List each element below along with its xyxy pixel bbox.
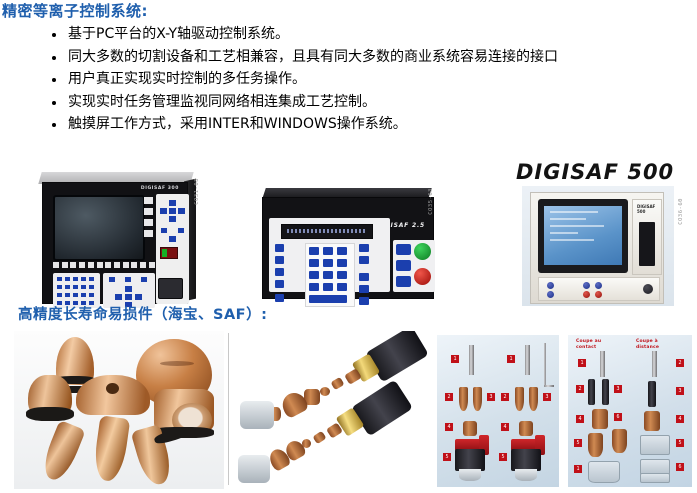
keypad-key[interactable] bbox=[57, 285, 62, 289]
part-badge: 2 bbox=[501, 393, 509, 401]
softkey-column bbox=[144, 197, 153, 241]
device-front-panel: DIGISAF 2.5 bbox=[262, 197, 434, 299]
swirl-ring bbox=[463, 421, 477, 436]
device-photo-row: DIGISAF 300 bbox=[0, 160, 697, 308]
nav-center-key[interactable] bbox=[125, 294, 132, 300]
keypad-key[interactable] bbox=[81, 293, 86, 297]
panel-key[interactable] bbox=[53, 262, 59, 268]
keypad-key[interactable] bbox=[65, 293, 70, 297]
page-title-plasma-control-system: 精密等离子控制系统: bbox=[2, 3, 148, 20]
torch-shield-cup bbox=[240, 401, 274, 429]
shield-cup bbox=[588, 461, 620, 483]
keypad-key[interactable] bbox=[89, 293, 94, 297]
control-face bbox=[269, 218, 390, 292]
function-key[interactable] bbox=[359, 244, 369, 252]
part-badge: 3 bbox=[614, 385, 622, 393]
panel-key[interactable] bbox=[140, 262, 146, 268]
electrode-rod bbox=[652, 351, 657, 377]
retaining-cap bbox=[640, 473, 670, 483]
panel-key[interactable] bbox=[114, 262, 120, 268]
keypad-key[interactable] bbox=[65, 277, 70, 281]
part-badge: 2 bbox=[676, 359, 684, 367]
screen-line bbox=[550, 211, 598, 213]
part-badge: 2 bbox=[445, 393, 453, 401]
panel-key[interactable] bbox=[97, 262, 103, 268]
keypad-key[interactable] bbox=[57, 301, 62, 305]
keypad-key[interactable] bbox=[323, 259, 333, 267]
part-badge: 5 bbox=[574, 439, 582, 447]
torch-tip bbox=[459, 469, 481, 481]
keypad-key[interactable] bbox=[89, 301, 94, 305]
keypad-key[interactable] bbox=[309, 283, 319, 291]
keypad-key[interactable] bbox=[337, 259, 347, 267]
keypad-key[interactable] bbox=[309, 259, 319, 267]
part-badge: 4 bbox=[576, 415, 584, 423]
electrode bbox=[515, 387, 524, 411]
device-brand-label: DIGISAF 300 bbox=[141, 186, 179, 191]
part-badge: 1 bbox=[574, 465, 582, 473]
function-key[interactable] bbox=[359, 256, 369, 264]
panel-label-coupe-a-distance: Coupe à distance bbox=[636, 339, 676, 350]
indicator-lamp bbox=[547, 291, 554, 298]
electrode bbox=[588, 379, 595, 405]
panel-key[interactable] bbox=[79, 262, 85, 268]
lcd-display bbox=[281, 224, 373, 239]
mode-key[interactable] bbox=[396, 276, 411, 287]
keypad-key[interactable] bbox=[309, 247, 319, 255]
function-key[interactable] bbox=[169, 236, 176, 242]
device-photo-cnc-controller: DIGISAF 300 bbox=[36, 172, 194, 302]
stop-button[interactable] bbox=[414, 268, 431, 285]
panel-key[interactable] bbox=[70, 262, 76, 268]
nozzle-body bbox=[612, 429, 627, 453]
panel-key[interactable] bbox=[131, 262, 137, 268]
nav-key[interactable] bbox=[125, 277, 131, 282]
diagram-panel-left: 1 2 3 4 5 1 2 3 4 5 bbox=[437, 335, 559, 487]
keypad-key[interactable] bbox=[337, 283, 347, 291]
keypad-key[interactable] bbox=[57, 277, 62, 281]
indicator-lamp bbox=[583, 282, 590, 289]
navigation-pad bbox=[103, 273, 155, 308]
selector-knob[interactable] bbox=[158, 278, 183, 299]
softkey[interactable] bbox=[144, 197, 153, 204]
part-badge: 1 bbox=[451, 355, 459, 363]
part-badge: 4 bbox=[445, 423, 453, 431]
dpad-up-key[interactable] bbox=[169, 200, 176, 206]
torch-part bbox=[312, 431, 326, 445]
device-side-code: CO31-08 bbox=[194, 178, 200, 205]
start-button[interactable] bbox=[414, 243, 431, 260]
keypad-key[interactable] bbox=[323, 271, 333, 279]
keypad-key[interactable] bbox=[73, 285, 78, 289]
center-bore bbox=[106, 383, 119, 394]
indicator-lamp bbox=[595, 282, 602, 289]
copper-vent-holes bbox=[160, 361, 194, 366]
copper-swirl-ring bbox=[76, 375, 150, 415]
keypad-key[interactable] bbox=[73, 301, 78, 305]
nav-key[interactable] bbox=[109, 277, 115, 282]
o-ring bbox=[26, 407, 74, 421]
list-item: 同大多数的切割设备和工艺相兼容，且具有同大多数的商业系统容易连接的接口 bbox=[46, 47, 666, 69]
keypad-key[interactable] bbox=[337, 271, 347, 279]
screen-bezel bbox=[538, 199, 628, 273]
panel-key[interactable] bbox=[62, 262, 68, 268]
electrode-rod bbox=[469, 345, 474, 375]
keypad-key[interactable] bbox=[65, 285, 70, 289]
part-badge: 3 bbox=[543, 393, 551, 401]
nav-left-key[interactable] bbox=[115, 294, 122, 300]
function-key[interactable] bbox=[359, 297, 369, 305]
screen-line bbox=[550, 225, 604, 227]
section-title-consumables: 高精度长寿命易损件（海宝、SAF）: bbox=[18, 308, 267, 324]
side-column: DIGISAF 500 bbox=[632, 199, 662, 275]
mode-key[interactable] bbox=[396, 244, 411, 255]
swirl-ring bbox=[592, 409, 608, 429]
keypad-key[interactable] bbox=[73, 277, 78, 281]
list-item: 实现实时任务管理监视同网络相连集成工艺控制。 bbox=[46, 92, 666, 114]
swirl-ring bbox=[644, 411, 660, 431]
keypad-key[interactable] bbox=[309, 271, 319, 279]
keypad-key[interactable] bbox=[81, 285, 86, 289]
shield-cup bbox=[640, 435, 670, 455]
nozzle bbox=[473, 387, 482, 411]
part-badge: 1 bbox=[578, 359, 586, 367]
electrode bbox=[459, 387, 468, 411]
function-key[interactable] bbox=[359, 273, 369, 281]
screen-line bbox=[550, 239, 594, 241]
photo-copper-consumables bbox=[14, 331, 224, 489]
dpad-right-key[interactable] bbox=[178, 208, 185, 214]
part-badge: 3 bbox=[676, 387, 684, 395]
keypad-key[interactable] bbox=[65, 301, 70, 305]
selector-knob[interactable] bbox=[643, 284, 653, 294]
keypad-key[interactable] bbox=[323, 283, 333, 291]
dpad-left-key[interactable] bbox=[160, 208, 167, 214]
part-badge: 5 bbox=[499, 453, 507, 461]
function-key[interactable] bbox=[275, 280, 284, 288]
panel-key[interactable] bbox=[123, 262, 129, 268]
photo-divider bbox=[228, 333, 229, 485]
device-photo-frame: DIGISAF 500 bbox=[522, 186, 674, 306]
torch-part bbox=[320, 387, 330, 396]
action-panel bbox=[393, 240, 435, 292]
panel-key[interactable] bbox=[149, 262, 155, 268]
numeric-keypad bbox=[53, 273, 100, 308]
device-screen bbox=[544, 206, 622, 265]
numeric-keypad bbox=[305, 243, 355, 307]
swirl-ring bbox=[519, 421, 533, 436]
feature-list: 基于PC平台的X-Y轴驱动控制系统。 同大多数的切割设备和工艺相兼容，且具有同大… bbox=[46, 24, 666, 137]
nav-key[interactable] bbox=[141, 277, 147, 282]
power-led bbox=[162, 249, 167, 257]
alignment-line bbox=[544, 385, 554, 387]
keypad-key[interactable] bbox=[337, 247, 347, 255]
softkey[interactable] bbox=[144, 208, 153, 215]
keypad-key[interactable] bbox=[323, 247, 333, 255]
alignment-line bbox=[544, 343, 546, 387]
product-page: 精密等离子控制系统: 基于PC平台的X-Y轴驱动控制系统。 同大多数的切割设备和… bbox=[0, 0, 697, 493]
consumables-photo-row: 1 2 3 4 5 1 2 3 4 5 bbox=[0, 327, 697, 493]
electrode bbox=[648, 381, 656, 407]
list-item: 基于PC平台的X-Y轴驱动控制系统。 bbox=[46, 24, 666, 46]
part-badge: 3 bbox=[487, 393, 495, 401]
nav-right-key[interactable] bbox=[135, 294, 142, 300]
cabinet-body: DIGISAF 500 bbox=[530, 192, 664, 304]
button-strip bbox=[53, 262, 155, 268]
function-key[interactable] bbox=[275, 244, 284, 252]
torch-shield-cup bbox=[238, 455, 270, 483]
part-badge: 6 bbox=[614, 413, 622, 421]
device-front-panel: DIGISAF 300 bbox=[42, 182, 188, 304]
keypad-key[interactable] bbox=[89, 285, 94, 289]
enter-key[interactable] bbox=[309, 295, 347, 303]
keypad-key[interactable] bbox=[89, 277, 94, 281]
keypad-key[interactable] bbox=[73, 293, 78, 297]
part-badge: 4 bbox=[501, 423, 509, 431]
dpad-center-key[interactable] bbox=[169, 208, 176, 214]
panel-key[interactable] bbox=[88, 262, 94, 268]
nav-up-key[interactable] bbox=[125, 286, 132, 292]
panel-label-coupe-au-contact: Coupe au contact bbox=[576, 339, 616, 350]
function-key[interactable] bbox=[275, 294, 284, 302]
list-item: 用户真正实现实时控制的多任务操作。 bbox=[46, 69, 666, 91]
device-side-code: CO35-63 bbox=[428, 188, 434, 215]
photo-torch-assemblies bbox=[236, 331, 432, 489]
screen-line bbox=[550, 232, 578, 234]
list-item: 触摸屏工作方式，采用INTER和WINDOWS操作系统。 bbox=[46, 114, 666, 136]
function-key[interactable] bbox=[178, 228, 184, 233]
device-photo-digisaf-25: DIGISAF 2.5 bbox=[258, 188, 436, 300]
torch-part bbox=[330, 377, 344, 390]
screen-line bbox=[550, 218, 586, 220]
mode-key[interactable] bbox=[396, 260, 411, 271]
indicator-lamp bbox=[547, 282, 554, 289]
part-badge: 5 bbox=[676, 439, 684, 447]
keypad-key[interactable] bbox=[81, 301, 86, 305]
softkey[interactable] bbox=[144, 219, 153, 226]
part-badge: 2 bbox=[576, 385, 584, 393]
function-key[interactable] bbox=[161, 228, 167, 233]
indicator-lamp bbox=[583, 291, 590, 298]
torch-body bbox=[511, 449, 541, 471]
nozzle bbox=[602, 379, 609, 405]
keypad-key[interactable] bbox=[81, 277, 86, 281]
keypad-key[interactable] bbox=[57, 293, 62, 297]
dpad-down-key[interactable] bbox=[169, 216, 176, 222]
part-badge: 5 bbox=[443, 453, 451, 461]
copper-electrode bbox=[38, 420, 86, 484]
function-key[interactable] bbox=[275, 256, 284, 264]
nozzle-body bbox=[588, 433, 603, 457]
status-indicator bbox=[160, 247, 178, 259]
copper-electrode bbox=[92, 415, 131, 483]
indicator-lamp bbox=[595, 291, 602, 298]
part-badge: 1 bbox=[507, 355, 515, 363]
torch-body bbox=[455, 449, 485, 471]
nozzle bbox=[529, 387, 538, 411]
part-badge: 4 bbox=[676, 415, 684, 423]
device-side-code: CO36-60 bbox=[678, 198, 684, 225]
panel-key[interactable] bbox=[105, 262, 111, 268]
softkey[interactable] bbox=[144, 230, 153, 237]
electrode-rod bbox=[525, 345, 530, 375]
part-badge: 6 bbox=[676, 463, 684, 471]
card-slot bbox=[639, 222, 655, 266]
diagram-panel-right: Coupe au contact Coupe à distance 1 2 3 … bbox=[568, 335, 692, 487]
function-key[interactable] bbox=[359, 285, 369, 293]
electrode-rod bbox=[600, 351, 605, 377]
control-bar bbox=[538, 277, 660, 301]
lcd-text-row bbox=[287, 229, 365, 233]
torch-tip bbox=[515, 469, 537, 481]
device-photo-digisaf-500: DIGISAF 500 DIGISAF 500 bbox=[512, 160, 692, 308]
device-brand-label: DIGISAF 500 bbox=[637, 204, 661, 214]
function-key[interactable] bbox=[275, 268, 284, 276]
device-title-digisaf-500: DIGISAF 500 bbox=[516, 160, 674, 184]
device-screen bbox=[53, 195, 145, 261]
